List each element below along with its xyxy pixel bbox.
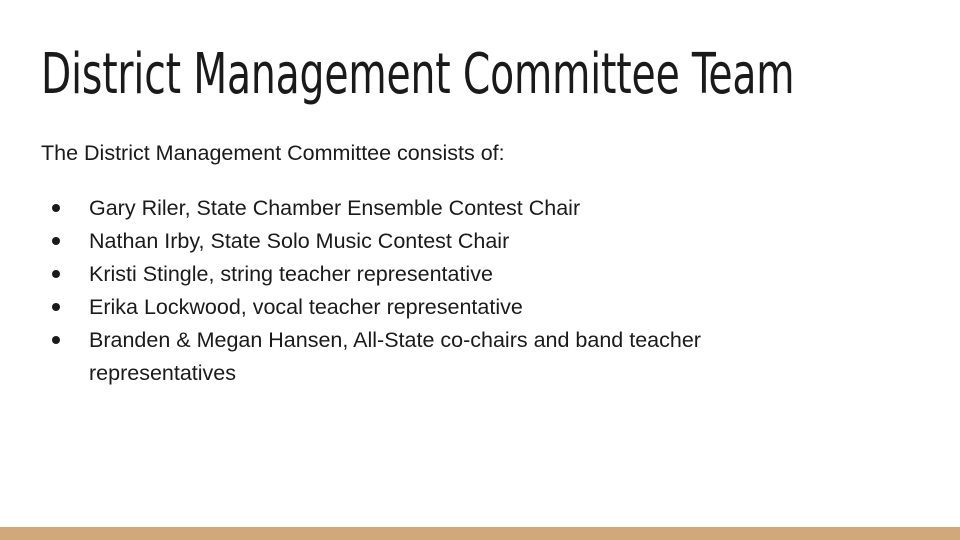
list-item-label: Erika Lockwood, vocal teacher representa…: [89, 291, 831, 324]
slide-subtitle: The District Management Committee consis…: [41, 139, 505, 167]
committee-member-list: Gary Riler, State Chamber Ensemble Conte…: [41, 192, 831, 390]
list-item-label: Branden & Megan Hansen, All-State co-cha…: [89, 324, 831, 390]
bullet-dot-icon: [52, 237, 60, 245]
bullet-dot-icon: [52, 270, 60, 278]
bullet-dot-icon: [52, 204, 60, 212]
page-title: District Management Committee Team: [41, 46, 899, 104]
list-item: Erika Lockwood, vocal teacher representa…: [41, 291, 831, 324]
list-item: Nathan Irby, State Solo Music Contest Ch…: [41, 225, 831, 258]
list-item: Branden & Megan Hansen, All-State co-cha…: [41, 324, 831, 390]
list-item: Kristi Stingle, string teacher represent…: [41, 258, 831, 291]
bullet-dot-icon: [52, 303, 60, 311]
list-item-label: Nathan Irby, State Solo Music Contest Ch…: [89, 225, 831, 258]
list-item-label: Gary Riler, State Chamber Ensemble Conte…: [89, 192, 831, 225]
footer-accent-bar: [0, 527, 960, 540]
presentation-slide: District Management Committee Team The D…: [0, 0, 960, 540]
list-item: Gary Riler, State Chamber Ensemble Conte…: [41, 192, 831, 225]
bullet-dot-icon: [52, 336, 60, 344]
list-item-label: Kristi Stingle, string teacher represent…: [89, 258, 831, 291]
